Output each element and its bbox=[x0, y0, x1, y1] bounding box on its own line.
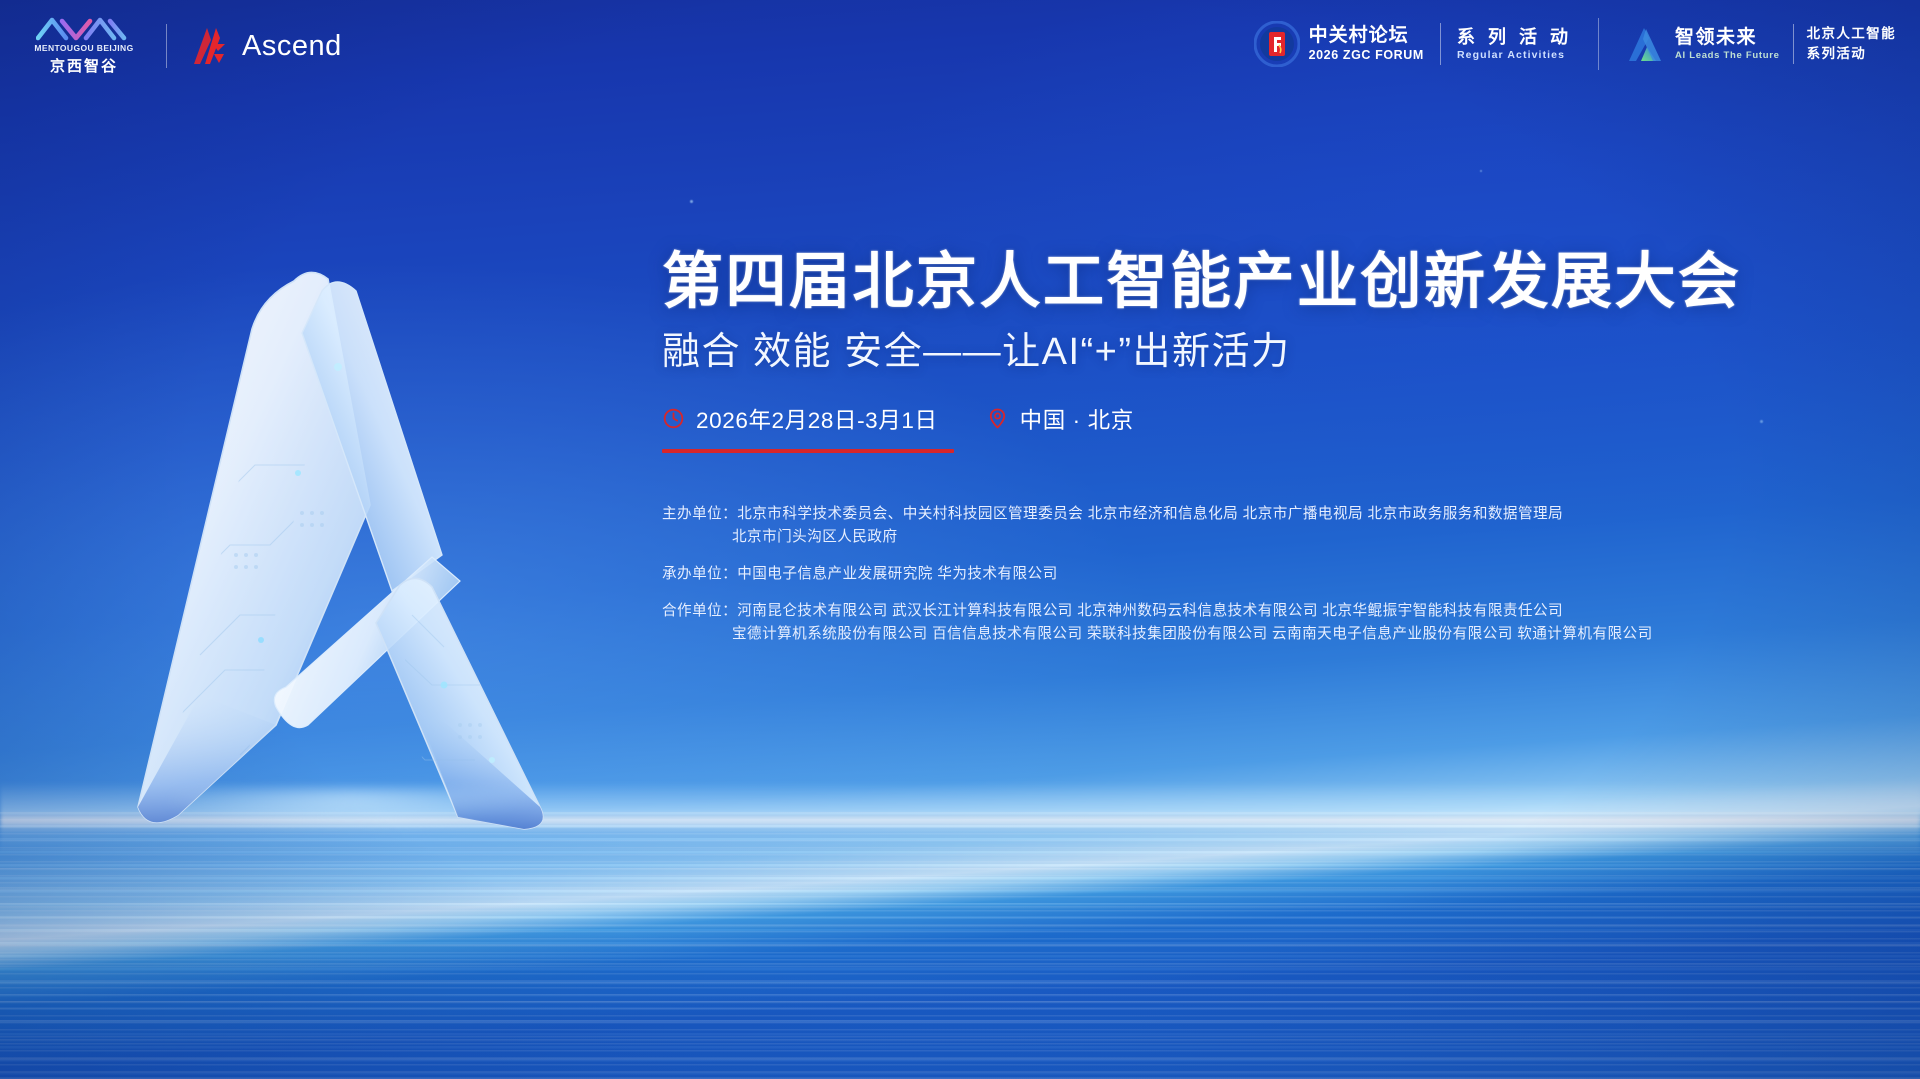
organizer-line: 合作单位：河南昆仑技术有限公司 武汉长江计算科技有限公司 北京神州数码云科信息技… bbox=[662, 600, 1842, 624]
zgc-seal-icon bbox=[1254, 21, 1300, 67]
logo-group-divider bbox=[1598, 18, 1599, 70]
event-location: 中国 · 北京 bbox=[986, 403, 1134, 435]
event-meta: 2026年2月28日-3月1日 中国 · 北京 bbox=[662, 403, 1842, 435]
beijing-ai-series-label: 北京人工智能 系列活动 bbox=[1807, 24, 1896, 63]
event-date-text: 2026年2月28日-3月1日 bbox=[696, 403, 938, 435]
mentougou-chevrons-icon bbox=[36, 16, 132, 42]
event-date: 2026年2月28日-3月1日 bbox=[662, 403, 938, 435]
top-logo-bar: MENTOUGOU BEIJING 京西智谷 Ascend bbox=[0, 0, 1920, 92]
location-pin-icon bbox=[986, 407, 1009, 430]
organizer-line: 北京市门头沟区人民政府 bbox=[662, 526, 1842, 550]
beijing-ai-series-line2: 系列活动 bbox=[1807, 44, 1896, 64]
zgc-chinese: 中关村论坛 bbox=[1309, 25, 1424, 46]
organizer-group-host: 主办单位：北京市科学技术委员会、中关村科技园区管理委员会 北京市经济和信息化局 … bbox=[662, 503, 1842, 550]
ai-series-divider bbox=[1793, 24, 1794, 64]
conference-subtitle: 融合 效能 安全——让AI“+”出新活力 bbox=[662, 329, 1842, 377]
zgc-forum-logo: 中关村论坛 2026 ZGC FORUM bbox=[1254, 21, 1424, 67]
conference-title: 第四届北京人工智能产业创新发展大会 bbox=[662, 247, 1842, 315]
series-activities-label: 系 列 活 动 Regular Activities bbox=[1457, 27, 1572, 62]
poster-background: MENTOUGOU BEIJING 京西智谷 Ascend bbox=[0, 0, 1920, 1079]
ai-leads-logo: 智领未来 AI Leads The Future bbox=[1625, 23, 1780, 65]
organizer-line: 宝德计算机系统股份有限公司 百信信息技术有限公司 荣联科技集团股份有限公司 云南… bbox=[662, 623, 1842, 647]
organizer-line: 承办单位：中国电子信息产业发展研究院 华为技术有限公司 bbox=[662, 563, 1842, 587]
organizer-group-undertaker: 承办单位：中国电子信息产业发展研究院 华为技术有限公司 bbox=[662, 563, 1842, 587]
right-logo-group: 中关村论坛 2026 ZGC FORUM 系 列 活 动 Regular Act… bbox=[1254, 18, 1896, 70]
left-logo-group: MENTOUGOU BEIJING 京西智谷 Ascend bbox=[24, 16, 342, 76]
beijing-ai-series-line1: 北京人工智能 bbox=[1807, 24, 1896, 44]
zgc-english: 2026 ZGC FORUM bbox=[1309, 48, 1424, 63]
series-chinese: 系 列 活 动 bbox=[1457, 27, 1572, 48]
clock-icon bbox=[662, 407, 685, 430]
ascend-logo: Ascend bbox=[189, 24, 342, 68]
event-location-text: 中国 · 北京 bbox=[1020, 403, 1134, 435]
hero-content: 第四届北京人工智能产业创新发展大会 融合 效能 安全——让AI“+”出新活力 2… bbox=[662, 247, 1842, 660]
ai-mountain-mark-icon bbox=[1625, 23, 1667, 65]
zgc-series-divider bbox=[1440, 23, 1441, 65]
series-english: Regular Activities bbox=[1457, 49, 1572, 61]
ascend-a-sculpture-icon bbox=[40, 255, 680, 875]
organizer-group-partners: 合作单位：河南昆仑技术有限公司 武汉长江计算科技有限公司 北京神州数码云科信息技… bbox=[662, 600, 1842, 647]
sparkle-dot bbox=[1480, 170, 1482, 172]
organizer-line: 主办单位：北京市科学技术委员会、中关村科技园区管理委员会 北京市经济和信息化局 … bbox=[662, 503, 1842, 527]
ascend-wordmark: Ascend bbox=[242, 30, 342, 63]
logo-divider bbox=[166, 24, 167, 68]
ai-leads-chinese: 智领未来 bbox=[1675, 27, 1780, 49]
mentougou-english: MENTOUGOU BEIJING bbox=[34, 43, 133, 53]
accent-underline bbox=[662, 449, 954, 453]
mentougou-logo: MENTOUGOU BEIJING 京西智谷 bbox=[24, 16, 144, 76]
sparkle-dot bbox=[690, 200, 693, 203]
mentougou-chinese: 京西智谷 bbox=[50, 55, 118, 76]
ascend-a-mark-icon bbox=[189, 24, 233, 68]
ascend-a-sculpture bbox=[40, 255, 680, 875]
organizers-block: 主办单位：北京市科学技术委员会、中关村科技园区管理委员会 北京市经济和信息化局 … bbox=[662, 503, 1842, 647]
ai-leads-english: AI Leads The Future bbox=[1675, 50, 1780, 61]
